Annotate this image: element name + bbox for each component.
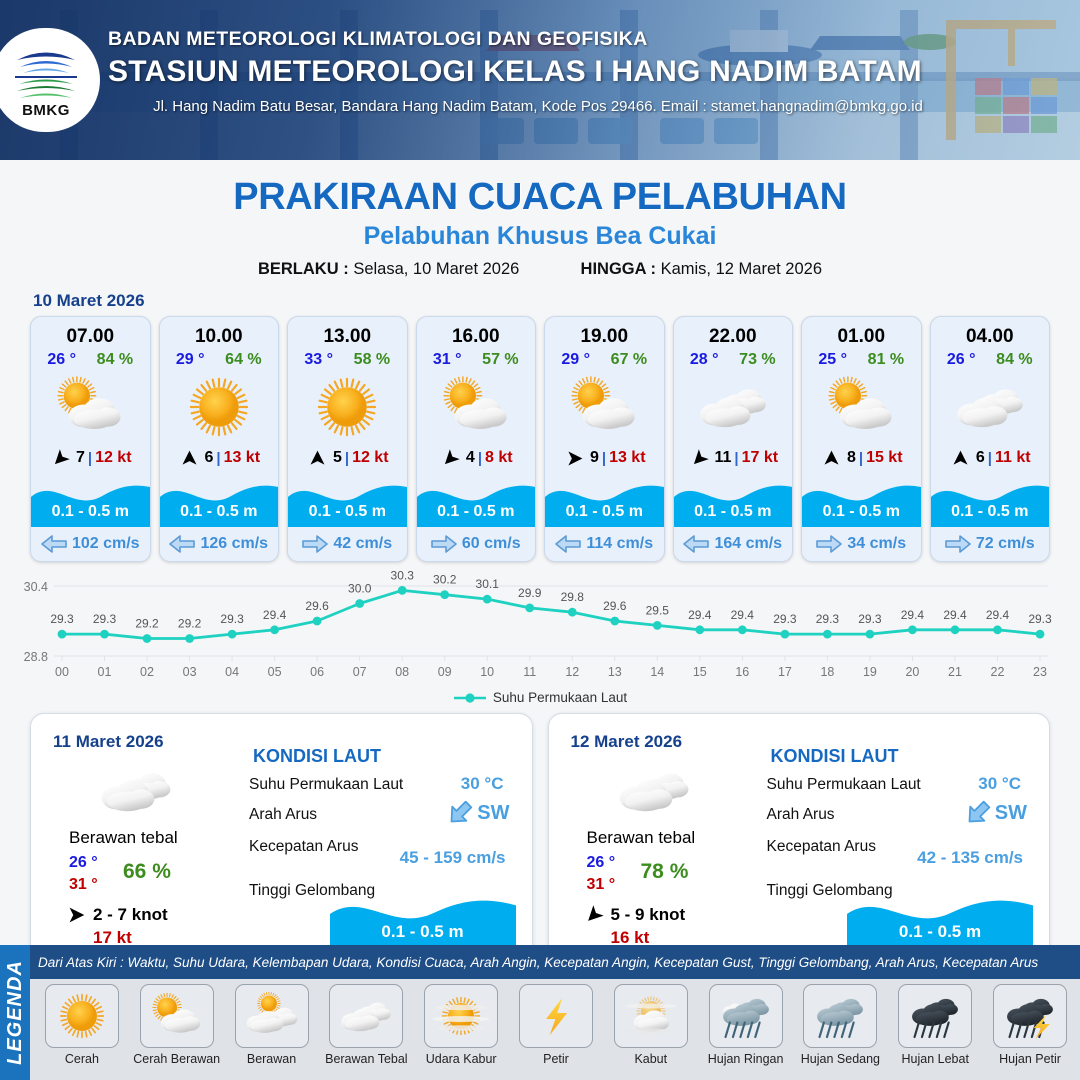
sst-value: 30 °C <box>461 774 504 794</box>
daily-summary-row: 11 Maret 2026 Berawan tebal 26 ° 31 ° 66… <box>0 705 1080 965</box>
wave-height-value: 0.1 - 0.5 m <box>674 503 793 521</box>
legend-icon-box <box>993 984 1067 1048</box>
legend-icon-box <box>898 984 972 1048</box>
gust-value: 17 kt <box>742 449 778 467</box>
current-speed-value: 42 cm/s <box>333 535 392 553</box>
legend-note: Dari Atas Kiri : Waktu, Suhu Udara, Kele… <box>38 955 1038 970</box>
validity-line: BERLAKU : Selasa, 10 Maret 2026 HINGGA :… <box>0 260 1080 279</box>
forecast-weather-icon <box>160 371 279 443</box>
svg-text:11: 11 <box>523 665 536 679</box>
sun-cloud-icon <box>146 991 208 1041</box>
current-direction-value: SW <box>445 800 509 826</box>
legend-items: Cerah Cerah Berawan Berawan Berawan Teba… <box>30 979 1080 1080</box>
page-subtitle: Pelabuhan Khusus Bea Cukai <box>0 222 1080 251</box>
station-name: STASIUN METEOROLOGI KELAS I HANG NADIM B… <box>108 55 1068 89</box>
forecast-card: 07.00 26 ° 84 % 7 | 12 kt 0.1 - 0.5 m 10… <box>30 316 151 562</box>
cloud-icon <box>93 762 179 820</box>
wave-height-value: 0.1 - 0.5 m <box>417 503 536 521</box>
legend-icon-box <box>709 984 783 1048</box>
legend-item-label: Cerah Berawan <box>131 1052 223 1066</box>
forecast-card: 19.00 29 ° 67 % 9 | 13 kt 0.1 - 0.5 m 11… <box>544 316 665 562</box>
valid-until-label: HINGGA : <box>581 260 656 278</box>
title-section: PRAKIRAAN CUACA PELABUHAN Pelabuhan Khus… <box>0 160 1080 279</box>
forecast-time: 04.00 <box>931 317 1050 350</box>
svg-text:07: 07 <box>353 665 367 679</box>
forecast-humidity: 84 % <box>97 351 133 369</box>
wind-speed-value: 6 <box>976 449 985 467</box>
sea-condition-header: KONDISI LAUT <box>253 746 381 767</box>
svg-text:30.2: 30.2 <box>433 573 457 587</box>
wind-separator: | <box>478 450 482 467</box>
valid-until-value: Kamis, 12 Maret 2026 <box>661 260 822 278</box>
summary-temp-max: 31 ° <box>587 876 616 894</box>
wind-speed-value: 5 <box>333 449 342 467</box>
forecast-weather-icon <box>802 371 921 443</box>
svg-text:29.6: 29.6 <box>305 599 329 613</box>
legend-item: Cerah <box>36 984 128 1066</box>
svg-text:29.3: 29.3 <box>773 612 797 626</box>
chart-legend: Suhu Permukaan Laut <box>0 690 1080 705</box>
wave-height-block: 0.1 - 0.5 m <box>545 475 664 527</box>
svg-text:14: 14 <box>650 665 664 679</box>
legend-icon-box <box>235 984 309 1048</box>
daily-summary-panel: 11 Maret 2026 Berawan tebal 26 ° 31 ° 66… <box>30 713 533 965</box>
current-speed-label: Kecepatan Arus <box>249 838 358 856</box>
current-direction-icon <box>816 535 842 553</box>
wind-separator: | <box>859 450 863 467</box>
svg-text:29.4: 29.4 <box>263 608 287 622</box>
gust-value: 13 kt <box>609 449 645 467</box>
valid-from-label: BERLAKU : <box>258 260 349 278</box>
bmkg-logo-mark <box>7 43 85 103</box>
summary-date: 11 Maret 2026 <box>53 732 164 752</box>
wind-direction-icon <box>65 904 87 926</box>
forecast-temperature: 31 ° <box>433 351 462 369</box>
forecast-temperature: 28 ° <box>690 351 719 369</box>
wind-separator: | <box>734 450 738 467</box>
wind-speed-value: 11 <box>714 449 731 467</box>
agency-name: BADAN METEOROLOGI KLIMATOLOGI DAN GEOFIS… <box>108 28 1068 51</box>
svg-text:29.3: 29.3 <box>1028 612 1052 626</box>
current-direction-icon <box>683 535 709 553</box>
current-block: 72 cm/s <box>931 527 1050 561</box>
forecast-humidity: 57 % <box>482 351 518 369</box>
sst-chart: 30.428.829.30029.30129.20229.20329.30429… <box>0 570 1080 688</box>
svg-text:08: 08 <box>395 665 409 679</box>
svg-text:29.4: 29.4 <box>901 608 925 622</box>
forecast-weather-icon <box>545 371 664 443</box>
forecast-temperature: 29 ° <box>176 351 205 369</box>
wind-direction-icon <box>436 443 466 473</box>
wave-height-value: 0.1 - 0.5 m <box>545 503 664 521</box>
summary-wave-value: 0.1 - 0.5 m <box>330 922 516 942</box>
summary-temp-max: 31 ° <box>69 876 98 894</box>
current-direction-icon <box>555 535 581 553</box>
legend-item: Hujan Lebat <box>889 984 981 1066</box>
forecast-card: 13.00 33 ° 58 % 5 | 12 kt 0.1 - 0.5 m 42… <box>287 316 408 562</box>
forecast-humidity: 81 % <box>868 351 904 369</box>
legend-item: Hujan Ringan <box>700 984 792 1066</box>
svg-text:29.4: 29.4 <box>731 608 755 622</box>
legend-icon-box <box>519 984 593 1048</box>
legend-item-label: Hujan Lebat <box>889 1052 981 1066</box>
svg-text:12: 12 <box>565 665 579 679</box>
sun-icon <box>51 991 113 1041</box>
forecast-card: 22.00 28 ° 73 % 11 | 17 kt 0.1 - 0.5 m 1… <box>673 316 794 562</box>
forecast-time: 07.00 <box>31 317 150 350</box>
fog-icon <box>620 991 682 1041</box>
gust-value: 8 kt <box>485 449 513 467</box>
wind-direction-icon <box>821 448 842 469</box>
wind-separator: | <box>345 450 349 467</box>
legend-item-label: Kabut <box>605 1052 697 1066</box>
svg-text:09: 09 <box>438 665 452 679</box>
summary-condition: Berawan tebal <box>69 828 178 848</box>
sun-icon <box>306 374 388 440</box>
forecast-humidity: 67 % <box>611 351 647 369</box>
svg-text:21: 21 <box>948 665 962 679</box>
legend-side-tab: LEGENDA <box>0 945 30 1080</box>
legend-item-label: Hujan Ringan <box>700 1052 792 1066</box>
forecast-humidity: 73 % <box>739 351 775 369</box>
summary-condition: Berawan tebal <box>587 828 696 848</box>
wave-height-block: 0.1 - 0.5 m <box>288 475 407 527</box>
current-block: 102 cm/s <box>31 527 150 561</box>
legend-icon-box <box>140 984 214 1048</box>
current-speed-value: 126 cm/s <box>200 535 268 553</box>
wind-direction-icon <box>564 448 585 469</box>
summary-humidity: 66 % <box>123 860 171 884</box>
wind-speed-value: 7 <box>76 449 85 467</box>
legend-item: Cerah Berawan <box>131 984 223 1066</box>
forecast-time: 10.00 <box>160 317 279 350</box>
current-speed-value: 45 - 159 cm/s <box>400 848 506 868</box>
svg-text:16: 16 <box>735 665 749 679</box>
gust-value: 11 kt <box>995 449 1031 467</box>
cloud-icon <box>611 762 697 820</box>
heavy-rain-icon <box>904 991 966 1041</box>
current-direction-icon <box>945 535 971 553</box>
forecast-time: 13.00 <box>288 317 407 350</box>
sst-label: Suhu Permukaan Laut <box>249 776 403 794</box>
sun-icon <box>178 374 260 440</box>
wind-separator: | <box>602 450 606 467</box>
svg-text:22: 22 <box>991 665 1005 679</box>
legend-item-label: Petir <box>510 1052 602 1066</box>
haze-icon <box>430 991 492 1041</box>
svg-text:01: 01 <box>98 665 112 679</box>
wave-height-block: 0.1 - 0.5 m <box>160 475 279 527</box>
summary-humidity: 78 % <box>641 860 689 884</box>
current-direction-icon <box>169 535 195 553</box>
sea-condition-header: KONDISI LAUT <box>771 746 899 767</box>
wave-height-block: 0.1 - 0.5 m <box>674 475 793 527</box>
hourly-forecast-row: 07.00 26 ° 84 % 7 | 12 kt 0.1 - 0.5 m 10… <box>0 316 1080 562</box>
summary-wind: 2 - 7 knot <box>65 904 168 926</box>
forecast-weather-icon <box>288 371 407 443</box>
svg-text:29.4: 29.4 <box>943 608 967 622</box>
legend-item-label: Berawan <box>226 1052 318 1066</box>
current-block: 60 cm/s <box>417 527 536 561</box>
chart-legend-marker <box>453 692 487 704</box>
current-speed-value: 34 cm/s <box>847 535 906 553</box>
svg-text:30.1: 30.1 <box>476 577 500 591</box>
svg-text:29.3: 29.3 <box>50 612 74 626</box>
summary-wave-block: 0.1 - 0.5 m <box>847 888 1033 950</box>
current-direction-icon <box>431 535 457 553</box>
legend-item: Udara Kabur <box>415 984 507 1066</box>
cloud-icon <box>949 374 1031 440</box>
wave-height-value: 0.1 - 0.5 m <box>931 503 1050 521</box>
wind-direction-icon <box>950 448 971 469</box>
current-direction-label: Arah Arus <box>249 806 317 824</box>
chart-legend-label: Suhu Permukaan Laut <box>493 690 627 705</box>
wind-speed-value: 6 <box>204 449 213 467</box>
wind-speed-value: 9 <box>590 449 599 467</box>
gust-value: 15 kt <box>866 449 902 467</box>
forecast-weather-icon <box>417 371 536 443</box>
wind-separator: | <box>216 450 220 467</box>
sun-cloud-icon <box>820 374 902 440</box>
forecast-weather-icon <box>31 371 150 443</box>
svg-text:10: 10 <box>480 665 494 679</box>
wave-height-block: 0.1 - 0.5 m <box>802 475 921 527</box>
gust-value: 12 kt <box>95 449 131 467</box>
forecast-date-label: 10 Maret 2026 <box>33 291 1080 311</box>
summary-wind-range: 5 - 9 knot <box>611 905 686 925</box>
page-title: PRAKIRAAN CUACA PELABUHAN <box>0 176 1080 219</box>
sst-chart-svg: 30.428.829.30029.30129.20229.20329.30429… <box>0 570 1080 688</box>
sst-label: Suhu Permukaan Laut <box>767 776 921 794</box>
wind-direction-icon <box>685 443 715 473</box>
svg-text:13: 13 <box>608 665 622 679</box>
current-block: 34 cm/s <box>802 527 921 561</box>
current-block: 164 cm/s <box>674 527 793 561</box>
summary-weather-icon <box>93 762 179 825</box>
svg-text:30.4: 30.4 <box>24 580 48 594</box>
wave-height-value: 0.1 - 0.5 m <box>31 503 150 521</box>
wave-height-block: 0.1 - 0.5 m <box>931 475 1050 527</box>
cloud-icon <box>692 374 774 440</box>
svg-text:28.8: 28.8 <box>24 650 48 664</box>
light-rain-icon <box>715 991 777 1041</box>
wave-height-value: 0.1 - 0.5 m <box>288 503 407 521</box>
legend-item: Petir <box>510 984 602 1066</box>
forecast-temperature: 29 ° <box>561 351 590 369</box>
svg-text:30.0: 30.0 <box>348 582 372 596</box>
svg-text:29.3: 29.3 <box>816 612 840 626</box>
wind-speed-value: 4 <box>466 449 475 467</box>
svg-text:20: 20 <box>905 665 919 679</box>
station-address: Jl. Hang Nadim Batu Besar, Bandara Hang … <box>108 98 968 115</box>
current-block: 126 cm/s <box>160 527 279 561</box>
legend-item: Hujan Petir <box>984 984 1076 1066</box>
sun-clouds-icon <box>241 991 303 1041</box>
summary-wave-block: 0.1 - 0.5 m <box>330 888 516 950</box>
wind-direction-icon <box>307 448 328 469</box>
wind-direction-icon <box>46 443 76 473</box>
svg-text:29.2: 29.2 <box>178 617 202 631</box>
svg-text:23: 23 <box>1033 665 1047 679</box>
forecast-temperature: 25 ° <box>818 351 847 369</box>
sun-cloud-icon <box>435 374 517 440</box>
forecast-weather-icon <box>931 371 1050 443</box>
svg-text:29.6: 29.6 <box>603 599 627 613</box>
forecast-temperature: 26 ° <box>47 351 76 369</box>
summary-wind: 5 - 9 knot <box>583 904 686 926</box>
summary-temp-min: 26 ° <box>69 854 98 872</box>
bmkg-logo-label: BMKG <box>7 102 85 119</box>
svg-text:04: 04 <box>225 665 239 679</box>
valid-from-value: Selasa, 10 Maret 2026 <box>353 260 519 278</box>
current-direction-value: SW <box>963 800 1027 826</box>
wind-direction-icon <box>179 448 200 469</box>
svg-text:30.3: 30.3 <box>391 570 415 582</box>
thunderstorm-icon <box>999 991 1061 1041</box>
clouds-icon <box>335 991 397 1041</box>
sst-value: 30 °C <box>978 774 1021 794</box>
legend-item: Hujan Sedang <box>795 984 887 1066</box>
svg-text:29.3: 29.3 <box>93 612 117 626</box>
forecast-humidity: 58 % <box>354 351 390 369</box>
current-speed-value: 42 - 135 cm/s <box>917 848 1023 868</box>
page-header: BMKG BADAN METEOROLOGI KLIMATOLOGI DAN G… <box>0 0 1080 160</box>
svg-text:29.9: 29.9 <box>518 586 542 600</box>
forecast-card: 16.00 31 ° 57 % 4 | 8 kt 0.1 - 0.5 m 60 … <box>416 316 537 562</box>
svg-text:29.4: 29.4 <box>688 608 712 622</box>
current-speed-value: 102 cm/s <box>72 535 140 553</box>
svg-text:06: 06 <box>310 665 324 679</box>
svg-text:17: 17 <box>778 665 792 679</box>
legend-icon-box <box>614 984 688 1048</box>
legend-item-label: Hujan Petir <box>984 1052 1076 1066</box>
svg-text:00: 00 <box>55 665 69 679</box>
forecast-humidity: 64 % <box>225 351 261 369</box>
current-speed-label: Kecepatan Arus <box>767 838 876 856</box>
legend-side-label: LEGENDA <box>4 960 27 1065</box>
legend-item-label: Udara Kabur <box>415 1052 507 1066</box>
svg-text:19: 19 <box>863 665 877 679</box>
forecast-time: 22.00 <box>674 317 793 350</box>
legend-item-label: Cerah <box>36 1052 128 1066</box>
summary-date: 12 Maret 2026 <box>571 732 683 752</box>
wave-height-block: 0.1 - 0.5 m <box>31 475 150 527</box>
forecast-time: 19.00 <box>545 317 664 350</box>
forecast-humidity: 84 % <box>996 351 1032 369</box>
svg-text:29.3: 29.3 <box>858 612 882 626</box>
legend-icon-box <box>329 984 403 1048</box>
summary-weather-icon <box>611 762 697 825</box>
legend-item-label: Berawan Tebal <box>320 1052 412 1066</box>
svg-text:02: 02 <box>140 665 154 679</box>
svg-text:15: 15 <box>693 665 707 679</box>
legend-icon-box <box>45 984 119 1048</box>
current-speed-value: 114 cm/s <box>586 535 653 553</box>
forecast-temperature: 26 ° <box>947 351 976 369</box>
summary-wave-value: 0.1 - 0.5 m <box>847 922 1033 942</box>
wind-separator: | <box>88 450 92 467</box>
lightning-icon <box>525 991 587 1041</box>
sun-cloud-icon <box>49 374 131 440</box>
legend-item-label: Hujan Sedang <box>795 1052 887 1066</box>
svg-text:29.2: 29.2 <box>135 617 159 631</box>
forecast-card: 01.00 25 ° 81 % 8 | 15 kt 0.1 - 0.5 m 34… <box>801 316 922 562</box>
svg-text:03: 03 <box>183 665 197 679</box>
forecast-time: 16.00 <box>417 317 536 350</box>
daily-summary-panel: 12 Maret 2026 Berawan tebal 26 ° 31 ° 78… <box>548 713 1051 965</box>
bmkg-logo: BMKG <box>0 28 100 132</box>
current-speed-value: 164 cm/s <box>714 535 782 553</box>
current-direction-arrow-icon <box>958 793 998 833</box>
moderate-rain-icon <box>809 991 871 1041</box>
wind-speed-value: 8 <box>847 449 856 467</box>
wind-separator: | <box>988 450 992 467</box>
current-direction-icon <box>302 535 328 553</box>
legend-section: LEGENDA Dari Atas Kiri : Waktu, Suhu Uda… <box>0 945 1080 1080</box>
current-direction-arrow-icon <box>440 793 480 833</box>
svg-text:05: 05 <box>268 665 282 679</box>
wave-height-value: 0.1 - 0.5 m <box>802 503 921 521</box>
forecast-time: 01.00 <box>802 317 921 350</box>
svg-text:29.8: 29.8 <box>561 590 585 604</box>
summary-wind-range: 2 - 7 knot <box>93 905 168 925</box>
current-block: 42 cm/s <box>288 527 407 561</box>
current-direction-label: Arah Arus <box>767 806 835 824</box>
wave-height-block: 0.1 - 0.5 m <box>417 475 536 527</box>
current-speed-value: 60 cm/s <box>462 535 521 553</box>
legend-icon-box <box>424 984 498 1048</box>
legend-item: Berawan <box>226 984 318 1066</box>
svg-text:29.3: 29.3 <box>220 612 244 626</box>
forecast-card: 10.00 29 ° 64 % 6 | 13 kt 0.1 - 0.5 m 12… <box>159 316 280 562</box>
gust-value: 12 kt <box>352 449 388 467</box>
current-speed-value: 72 cm/s <box>976 535 1035 553</box>
svg-text:29.5: 29.5 <box>646 603 670 617</box>
wind-direction-icon <box>578 899 609 930</box>
svg-text:29.4: 29.4 <box>986 608 1010 622</box>
forecast-weather-icon <box>674 371 793 443</box>
legend-item: Kabut <box>605 984 697 1066</box>
forecast-temperature: 33 ° <box>304 351 333 369</box>
gust-value: 13 kt <box>224 449 260 467</box>
forecast-card: 04.00 26 ° 84 % 6 | 11 kt 0.1 - 0.5 m 72… <box>930 316 1051 562</box>
legend-icon-box <box>803 984 877 1048</box>
svg-text:18: 18 <box>820 665 834 679</box>
sun-cloud-icon <box>563 374 645 440</box>
summary-temp-min: 26 ° <box>587 854 616 872</box>
legend-item: Berawan Tebal <box>320 984 412 1066</box>
current-direction-icon <box>41 535 67 553</box>
wave-height-value: 0.1 - 0.5 m <box>160 503 279 521</box>
current-block: 114 cm/s <box>545 527 664 561</box>
